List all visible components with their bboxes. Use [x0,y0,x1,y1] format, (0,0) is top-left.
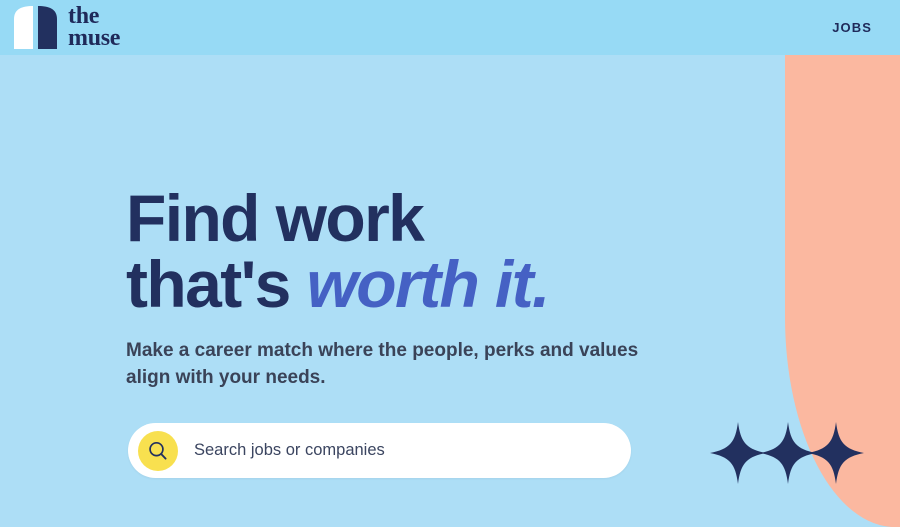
site-header: the muse JOBS [0,0,900,55]
sparkle-icon [806,420,866,486]
page-title: Find work that's worth it. [126,185,766,317]
search-icon [147,440,169,462]
hero-title-plain: that's [126,247,307,321]
sparkle-group [708,420,868,486]
search-icon-button[interactable] [138,431,178,471]
hero-section: Find work that's worth it. Make a career… [126,55,766,392]
open-book-logo-icon [8,5,64,51]
hero-title-line-2: that's worth it. [126,251,766,317]
logo-wordmark-line1: the [68,5,120,27]
header-nav: JOBS [832,20,872,35]
hero-title-line-1: Find work [126,185,766,251]
nav-link-jobs[interactable]: JOBS [832,20,872,35]
logo-wordmark: the muse [68,5,120,49]
hero-subtitle: Make a career match where the people, pe… [126,338,646,392]
page-root: the muse JOBS Find work that's worth it.… [0,0,900,527]
search-bar[interactable] [128,423,631,478]
logo-wordmark-line2: muse [68,27,120,49]
hero-title-accent: worth it. [307,247,549,321]
search-input[interactable] [194,423,631,478]
site-logo[interactable]: the muse [8,5,120,51]
